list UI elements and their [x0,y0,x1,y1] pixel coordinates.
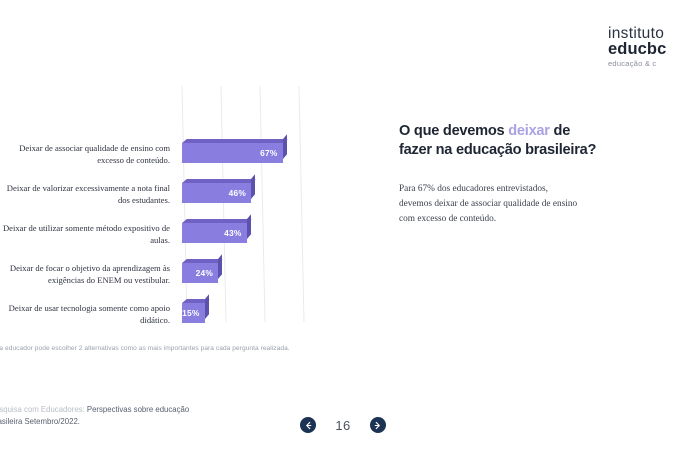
heading-highlight-word: deixar [508,123,550,139]
chart-bar[interactable]: 67% [182,143,283,163]
bar-side-face [218,254,222,279]
chart-footnote: ada educador pode escolher 2 alternativa… [0,345,352,352]
source-line-two: rasileira Setembro/2022. [0,417,80,426]
footer-source: esquisa com Educadores: Perspectivas sob… [0,404,295,428]
chart-bar-row: Deixar de associar qualidade de ensino c… [0,134,340,174]
horizontal-bar-chart: Deixar de associar qualidade de ensino c… [0,84,340,329]
bar-track: 24% [176,254,340,294]
bar-value-label: 15% [182,303,199,323]
bar-track: 67% [176,134,340,174]
chart-bar-row: Deixar de focar o objetivo da aprendizag… [0,254,340,294]
chart-bar[interactable]: 15% [182,303,205,323]
bar-side-face [247,214,251,239]
arrow-left-icon [304,421,313,430]
chart-bar-row: Deixar de utilizar somente método exposi… [0,214,340,254]
bar-category-label: Deixar de valorizar excessivamente a not… [0,182,176,206]
bar-track: 46% [176,174,340,214]
insight-panel: O que devemos deixar de fazer na educaçã… [399,122,599,227]
chart-bar-row: Deixar de usar tecnologia somente como a… [0,294,340,334]
bar-side-face [251,174,255,199]
chart-bar[interactable]: 46% [182,183,251,203]
bar-category-label: Deixar de utilizar somente método exposi… [0,222,176,246]
slide-canvas: instituto educbc educação & c Deixar de … [0,0,675,450]
bar-category-label: Deixar de focar o objetivo da aprendizag… [0,262,176,286]
source-rest: Perspectivas sobre educação [85,405,189,414]
logo-tagline: educação & c [608,60,675,68]
bar-value-label: 24% [196,263,213,283]
chart-bar-row: Deixar de valorizar excessivamente a not… [0,174,340,214]
bar-value-label: 43% [224,223,241,243]
source-lead: esquisa com Educadores: [0,405,85,414]
bar-value-label: 46% [229,183,246,203]
prev-page-button[interactable] [300,417,316,433]
page-navigation: 16 [300,413,386,437]
next-page-button[interactable] [370,417,386,433]
logo-line-name: educbc [608,41,675,58]
chart-bar[interactable]: 43% [182,223,247,243]
chart-bar[interactable]: 24% [182,263,218,283]
page-number: 16 [335,418,350,433]
bar-category-label: Deixar de associar qualidade de ensino c… [0,142,176,166]
panel-body-text: Para 67% dos educadores entrevistados, d… [399,182,579,227]
bar-track: 15% [176,294,340,334]
heading-text-lead: O que devemos [399,123,508,139]
bar-side-face [205,294,209,319]
bar-category-label: Deixar de usar tecnologia somente como a… [0,302,176,326]
panel-heading: O que devemos deixar de fazer na educaçã… [399,122,599,160]
bar-value-label: 67% [260,143,277,163]
arrow-right-icon [373,421,382,430]
bar-side-face [283,134,287,159]
bar-track: 43% [176,214,340,254]
brand-logo: instituto educbc educação & c [608,26,675,67]
